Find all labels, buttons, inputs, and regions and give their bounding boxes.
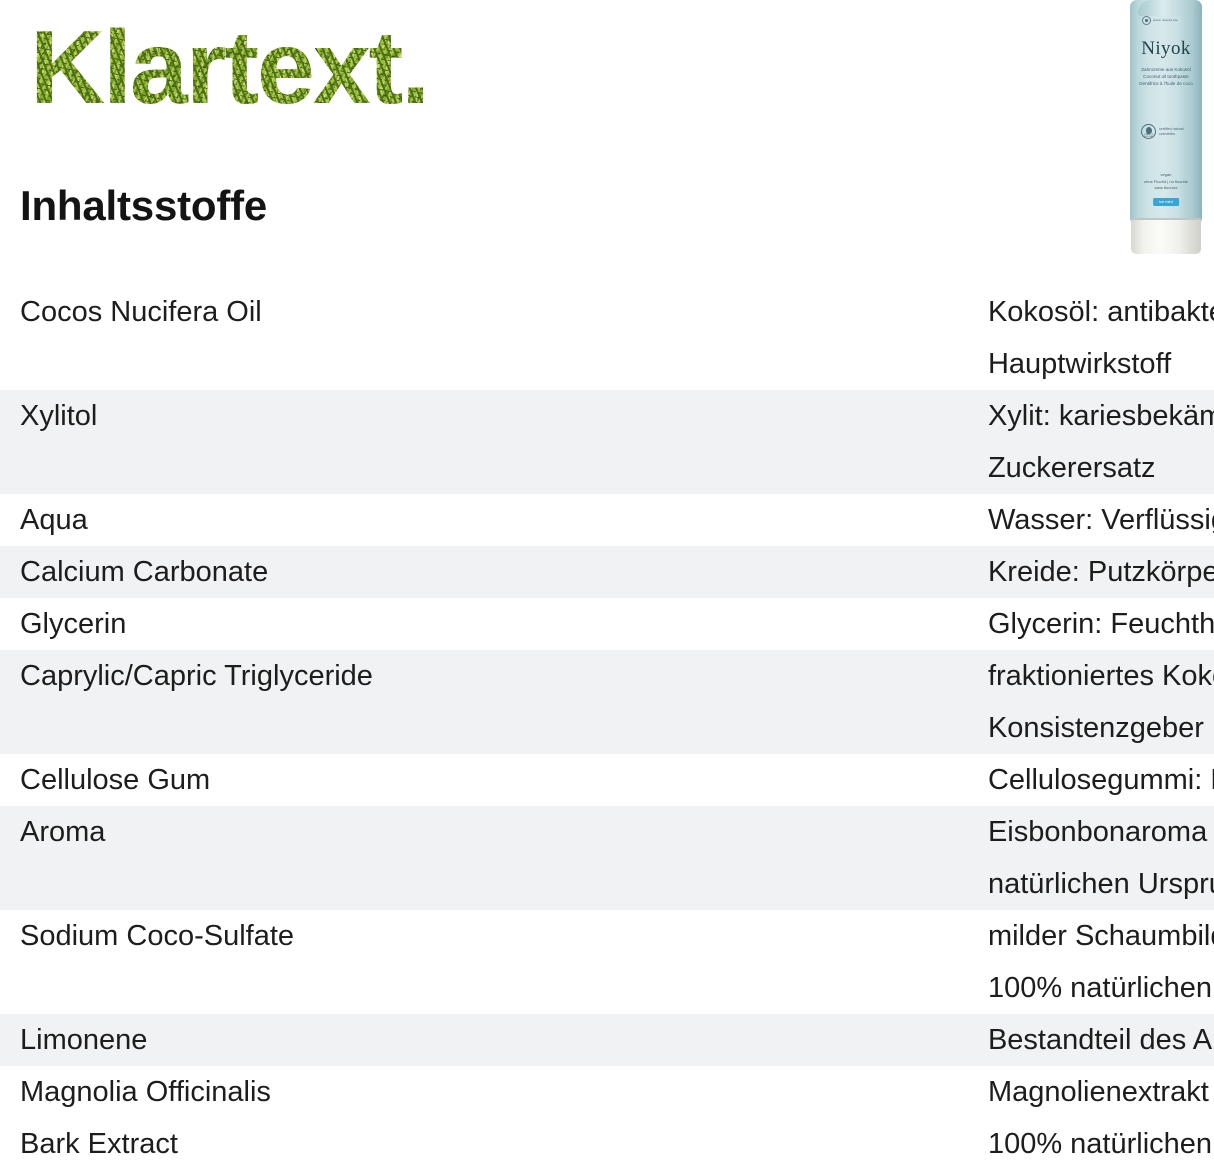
tube-description-line: Dentifrice à l'huile de coco [1131, 80, 1201, 87]
ingredient-inci-name: Caprylic/Capric Triglyceride [0, 650, 383, 754]
tube-description: Zahncreme aus Kokosöl Coconut oil toothp… [1131, 66, 1201, 88]
recycle-circle-icon [1142, 16, 1151, 25]
tube-shoulder [1138, 0, 1194, 16]
ingredient-description-line: Eisbonbonaroma [988, 806, 1214, 858]
ingredient-inci-name: Calcium Carbonate [0, 546, 383, 598]
ingredient-description-line: Magnolienextrakt aus [988, 1066, 1214, 1118]
ingredient-description-line: Kreide: Putzkörper [988, 546, 1214, 598]
tube-cap-divider [1131, 218, 1201, 220]
ingredient-description: Kreide: Putzkörper [383, 546, 1214, 598]
ingredient-description: Glycerin: Feuchthaltemittel [383, 598, 1214, 650]
table-row: GlycerinGlycerin: Feuchthaltemittel [0, 598, 1214, 650]
ingredients-table-body: Cocos Nucifera OilKokosöl: antibakteriel… [0, 286, 1214, 1170]
ingredient-inci-line: Aqua [20, 494, 373, 546]
table-row: Cellulose GumCellulosegummi: Bindemittel [0, 754, 1214, 806]
ingredient-description: Bestandteil des Aromas [383, 1014, 1214, 1066]
plastic-reduced-seal: plastic reduced tube [1142, 16, 1190, 25]
certification-label-line: certified natural [1159, 127, 1184, 132]
table-row: Magnolia OfficinalisBark ExtractMagnolie… [0, 1066, 1214, 1170]
tube-description-line: Coconut oil toothpaste [1131, 73, 1201, 80]
ingredient-inci-line: Caprylic/Capric Triglyceride [20, 650, 373, 702]
ingredient-description: Kokosöl: antibakteriellerHauptwirkstoff [383, 286, 1214, 390]
ingredient-description-line: Konsistenzgeber [988, 702, 1214, 754]
certification-label-line: cosmetics [1159, 132, 1184, 137]
ingredient-description-line: Hauptwirkstoff [988, 338, 1214, 390]
ingredient-description-line: 100% natürlichen Rohstoffen [988, 962, 1214, 1014]
table-row: XylitolXylit: kariesbekämpfenderZuckerer… [0, 390, 1214, 494]
table-row: Cocos Nucifera OilKokosöl: antibakteriel… [0, 286, 1214, 390]
ingredient-inci-name: Magnolia OfficinalisBark Extract [0, 1066, 383, 1170]
page-title: Inhaltsstoffe [20, 182, 267, 230]
cosmos-natural-seal-icon: COSMOS NATURAL [1141, 124, 1156, 139]
ingredient-inci-line: Sodium Coco-Sulfate [20, 910, 373, 962]
ingredients-table: Cocos Nucifera OilKokosöl: antibakteriel… [0, 286, 1214, 1170]
ingredient-inci-name: Cocos Nucifera Oil [0, 286, 383, 390]
ingredient-inci-name: Aroma [0, 806, 383, 910]
brand-logo: Klartext. [30, 8, 428, 128]
ingredient-description-line: Zuckerersatz [988, 442, 1214, 494]
tube-brand-name: Niyok [1128, 38, 1204, 60]
ingredient-description-line: fraktioniertes Kokosöl: [988, 650, 1214, 702]
ingredient-inci-name: Limonene [0, 1014, 383, 1066]
ingredient-inci-line: Cocos Nucifera Oil [20, 286, 373, 338]
ingredient-description: Cellulosegummi: Bindemittel [383, 754, 1214, 806]
tube-description-line: Zahncreme aus Kokosöl [1131, 66, 1201, 73]
ingredient-description: fraktioniertes Kokosöl:Konsistenzgeber [383, 650, 1214, 754]
ingredient-inci-name: Glycerin [0, 598, 383, 650]
ingredient-description-line: milder Schaumbildner aus [988, 910, 1214, 962]
ingredient-description-line: Glycerin: Feuchthaltemittel [988, 598, 1214, 650]
ingredient-inci-line: Cellulose Gum [20, 754, 373, 806]
tube-cap [1131, 218, 1201, 254]
tube-claim-line: ohne Fluorid | no fluoride [1131, 179, 1201, 186]
product-image: plastic reduced tube Niyok Zahncreme aus… [1128, 0, 1204, 254]
ingredient-description-line: Wasser: Verflüssiger [988, 494, 1214, 546]
toothpaste-tube: plastic reduced tube Niyok Zahncreme aus… [1128, 0, 1204, 254]
ingredient-inci-name: Xylitol [0, 390, 383, 494]
ingredient-inci-line: Aroma [20, 806, 373, 858]
brand-logo-text: Klartext. [30, 8, 428, 128]
table-row: Sodium Coco-Sulfatemilder Schaumbildner … [0, 910, 1214, 1014]
ingredient-inci-line: Limonene [20, 1014, 373, 1066]
tube-claims: vegan ohne Fluorid | no fluoride sans fl… [1131, 172, 1201, 192]
ingredient-description: Wasser: Verflüssiger [383, 494, 1214, 546]
table-row: Caprylic/Capric Triglyceridefraktioniert… [0, 650, 1214, 754]
certification-block: COSMOS NATURAL certified natural cosmeti… [1141, 124, 1184, 139]
table-row: AromaEisbonbonaromanatürlichen Ursprungs [0, 806, 1214, 910]
table-row: AquaWasser: Verflüssiger [0, 494, 1214, 546]
ingredient-description: Eisbonbonaromanatürlichen Ursprungs [383, 806, 1214, 910]
ingredient-inci-line: Bark Extract [20, 1118, 373, 1170]
ingredient-description: Magnolienextrakt aus100% natürlichen Roh… [383, 1066, 1214, 1170]
flavour-badge: ice mint [1153, 198, 1179, 206]
ingredient-description: Xylit: kariesbekämpfenderZuckerersatz [383, 390, 1214, 494]
ingredient-description-line: Xylit: kariesbekämpfender [988, 390, 1214, 442]
ingredient-inci-name: Cellulose Gum [0, 754, 383, 806]
table-row: Calcium CarbonateKreide: Putzkörper [0, 546, 1214, 598]
cosmos-seal-label: COSMOS NATURAL [1141, 134, 1156, 139]
ingredient-inci-line: Glycerin [20, 598, 373, 650]
ingredient-description-line: Bestandteil des Aromas [988, 1014, 1214, 1066]
ingredient-description: milder Schaumbildner aus100% natürlichen… [383, 910, 1214, 1014]
ingredient-inci-name: Aqua [0, 494, 383, 546]
table-row: LimoneneBestandteil des Aromas [0, 1014, 1214, 1066]
ingredient-description-line: natürlichen Ursprungs [988, 858, 1214, 910]
ingredient-inci-name: Sodium Coco-Sulfate [0, 910, 383, 1014]
tube-claim-line: sans fluorure [1131, 185, 1201, 192]
ingredient-inci-line: Magnolia Officinalis [20, 1066, 373, 1118]
tube-claim-line: vegan [1131, 172, 1201, 179]
ingredient-description-line: 100% natürlichen Rohstoffen [988, 1118, 1214, 1170]
ingredient-inci-line: Calcium Carbonate [20, 546, 373, 598]
certification-label: certified natural cosmetics [1159, 127, 1184, 137]
ingredient-description-line: Cellulosegummi: Bindemittel [988, 754, 1214, 806]
ingredient-inci-line: Xylitol [20, 390, 373, 442]
plastic-reduced-label: plastic reduced tube [1153, 19, 1178, 22]
ingredient-description-line: Kokosöl: antibakterieller [988, 286, 1214, 338]
